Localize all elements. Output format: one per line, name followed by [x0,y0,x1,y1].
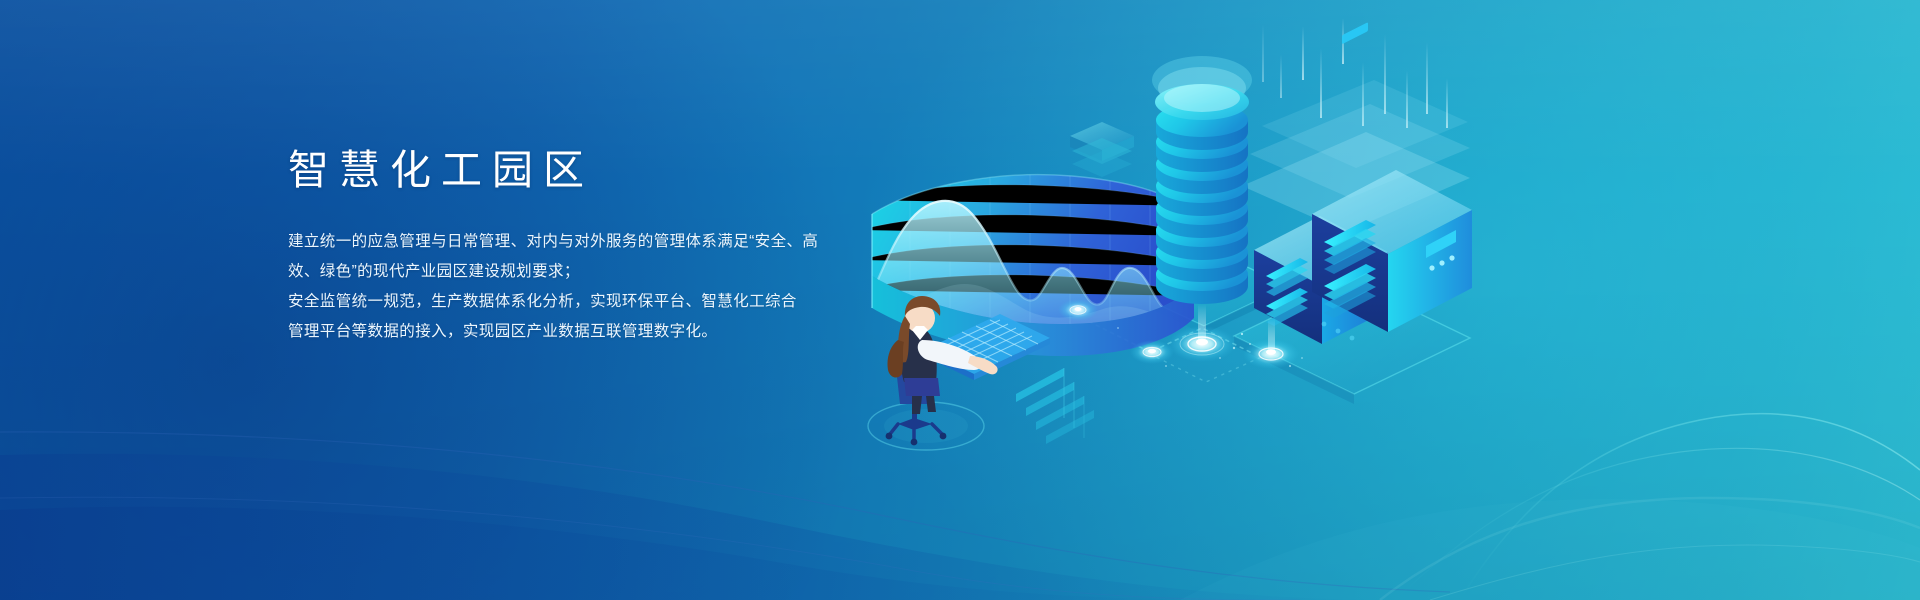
page-title: 智慧化工园区 [288,148,908,193]
hero-copy: 智慧化工园区 建立统一的应急管理与日常管理、对内与对外服务的管理体系满足“安全、… [288,148,908,347]
wave-line-light-2 [1395,448,1920,600]
description-line-4: 管理平台等数据的接入，实现园区产业数据互联管理数字化。 [288,317,908,347]
wave-fill-light [1180,499,1920,600]
beacon-mid [1130,340,1174,364]
wave-line-light-3 [1430,545,1920,600]
wave-band-light [1380,498,1920,600]
beacon-left [1058,299,1098,321]
hero-banner: 智慧化工园区 建立统一的应急管理与日常管理、对内与对外服务的管理体系满足“安全、… [0,0,1920,600]
wave-line-dark-2 [0,497,1300,600]
hero-description: 建立统一的应急管理与日常管理、对内与对外服务的管理体系满足“安全、高 效、绿色”… [288,227,908,347]
description-line-1: 建立统一的应急管理与日常管理、对内与对外服务的管理体系满足“安全、高 [288,227,908,257]
rack-status-display-small [1342,22,1368,44]
wave-line-light-1 [1460,414,1920,600]
hero-illustration [850,18,1470,458]
description-line-3: 安全监管统一规范，生产数据体系化分析，实现环保平台、智慧化工综合 [288,287,908,317]
wave-dark-1 [0,454,1400,600]
wave-dark-2 [0,507,1260,600]
stacked-cylinder-tower [1152,56,1252,304]
floating-layer-cube-icon [1070,122,1134,177]
iso-bar-stairs [1016,368,1094,444]
description-line-2: 效、绿色”的现代产业园区建设规划要求； [288,257,908,287]
